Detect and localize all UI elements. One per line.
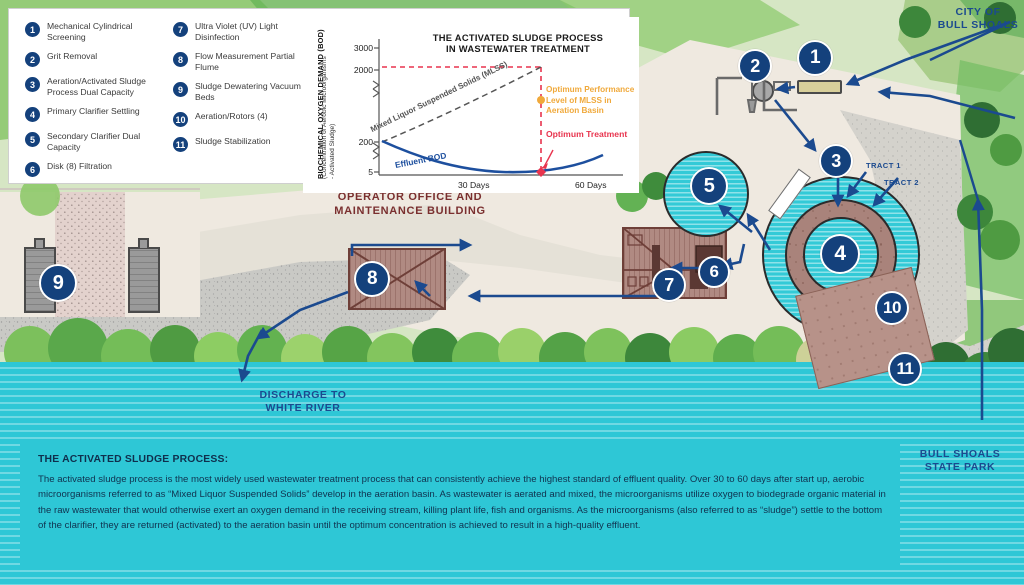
legend-item-4[interactable]: 4 Primary Clarifier Settling: [25, 106, 153, 122]
label-discharge-to-white-river: DISCHARGE TO WHITE RIVER: [238, 389, 368, 414]
legend-badge-2: 2: [25, 52, 40, 67]
legend-badge-7: 7: [173, 22, 188, 37]
map-marker-4[interactable]: 4: [820, 234, 860, 274]
legend-label-10: Aeration/Rotors (4): [195, 111, 268, 122]
label-tract-1: TRACT 1: [866, 160, 912, 173]
legend-column-2: 7 Ultra Violet (UV) Light Disinfection 8…: [173, 21, 301, 183]
legend-columns: 1 Mechanical Cylindrical Screening 2 Gri…: [9, 9, 301, 183]
sludge-dewatering-bed-left-vent: [34, 238, 45, 248]
map-marker-10[interactable]: 10: [875, 291, 909, 325]
narrative-panel: THE ACTIVATED SLUDGE PROCESS: The activa…: [20, 440, 900, 570]
legend-badge-9: 9: [173, 82, 188, 97]
legend-label-1: Mechanical Cylindrical Screening: [47, 21, 153, 42]
legend-item-3[interactable]: 3 Aeration/Activated Sludge Process Dual…: [25, 76, 153, 97]
legend-badge-8: 8: [173, 52, 188, 67]
label-operator-office: OPERATOR OFFICE AND MAINTENANCE BUILDING: [300, 190, 520, 218]
legend-item-11[interactable]: 11 Sludge Stabilization: [173, 136, 301, 152]
legend-badge-4: 4: [25, 107, 40, 122]
map-marker-1[interactable]: 1: [797, 40, 833, 76]
map-marker-9[interactable]: 9: [39, 264, 77, 302]
legend-badge-3: 3: [25, 77, 40, 92]
map-marker-5[interactable]: 5: [690, 167, 728, 205]
legend-item-6[interactable]: 6 Disk (8) Filtration: [25, 161, 153, 177]
sludge-dewatering-bed-right: [128, 247, 160, 313]
legend-item-10[interactable]: 10 Aeration/Rotors (4): [173, 111, 301, 127]
legend-panel: 1 Mechanical Cylindrical Screening 2 Gri…: [8, 8, 630, 184]
legend-label-4: Primary Clarifier Settling: [47, 106, 140, 117]
legend-label-6: Disk (8) Filtration: [47, 161, 112, 172]
bod-mlss-chart: THE ACTIVATED SLUDGE PROCESS IN WASTEWAT…: [303, 17, 639, 193]
label-city-of-bull-shoals: CITY OF BULL SHOALS: [932, 6, 1024, 31]
chart-annotation-optimum-performance: Optimum Performance Level of MLSS in Aer…: [546, 85, 634, 117]
legend-badge-5: 5: [25, 132, 40, 147]
label-bull-shoals-state-park: BULL SHOALS STATE PARK: [908, 448, 1012, 473]
legend-label-8: Flow Measurement Partial Flume: [195, 51, 301, 72]
sludge-dewatering-bed-right-vent: [138, 238, 149, 248]
legend-badge-6: 6: [25, 162, 40, 177]
legend-badge-11: 11: [173, 137, 188, 152]
legend-item-5[interactable]: 5 Secondary Clarifier Dual Capacity: [25, 131, 153, 152]
map-marker-6[interactable]: 6: [698, 256, 730, 288]
legend-item-9[interactable]: 9 Sludge Dewatering Vacuum Beds: [173, 81, 301, 102]
chart-annotation-optimum-treatment: Optimum Treatment: [546, 129, 627, 139]
legend-item-2[interactable]: 2 Grit Removal: [25, 51, 153, 67]
legend-column-1: 1 Mechanical Cylindrical Screening 2 Gri…: [25, 21, 153, 183]
map-marker-11[interactable]: 11: [888, 352, 922, 386]
map-marker-7[interactable]: 7: [652, 268, 686, 302]
legend-label-2: Grit Removal: [47, 51, 97, 62]
legend-item-8[interactable]: 8 Flow Measurement Partial Flume: [173, 51, 301, 72]
narrative-heading: THE ACTIVATED SLUDGE PROCESS:: [38, 454, 890, 465]
legend-item-7[interactable]: 7 Ultra Violet (UV) Light Disinfection: [173, 21, 301, 42]
map-marker-2[interactable]: 2: [738, 49, 772, 83]
legend-label-5: Secondary Clarifier Dual Capacity: [47, 131, 153, 152]
map-marker-3[interactable]: 3: [819, 144, 853, 178]
label-tract-2: TRACT 2: [884, 177, 930, 190]
infographic-root: CITY OF BULL SHOALS OPERATOR OFFICE AND …: [0, 0, 1024, 585]
map-marker-8[interactable]: 8: [354, 261, 390, 297]
legend-badge-1: 1: [25, 22, 40, 37]
legend-label-3: Aeration/Activated Sludge Process Dual C…: [47, 76, 153, 97]
narrative-body: The activated sludge process is the most…: [38, 472, 890, 534]
legend-label-7: Ultra Violet (UV) Light Disinfection: [195, 21, 301, 42]
legend-item-1[interactable]: 1 Mechanical Cylindrical Screening: [25, 21, 153, 42]
legend-label-11: Sludge Stabilization: [195, 136, 271, 147]
legend-badge-10: 10: [173, 112, 188, 127]
legend-label-9: Sludge Dewatering Vacuum Beds: [195, 81, 301, 102]
